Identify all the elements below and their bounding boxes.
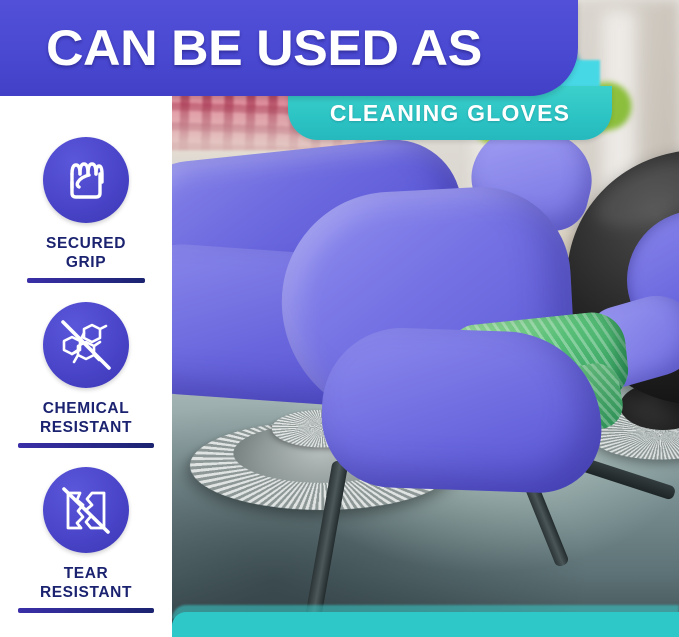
chemical-molecule-no-icon: [56, 315, 116, 375]
feature-icon-badge: [43, 137, 129, 223]
feature-icon-badge: [43, 302, 129, 388]
feature-label-line2: GRIP: [46, 253, 126, 272]
feature-underline: [18, 608, 154, 613]
feature-label: CHEMICAL RESISTANT: [40, 399, 132, 437]
glove-hand-lower: [319, 325, 604, 495]
feature-label: SECURED GRIP: [46, 234, 126, 272]
fist-grip-icon: [58, 152, 114, 208]
feature-label-line1: SECURED: [46, 234, 126, 253]
feature-list: SECURED GRIP: [0, 96, 172, 637]
feature-underline: [18, 443, 154, 448]
feature-label-line2: RESISTANT: [40, 418, 132, 437]
headline-banner: CAN BE USED AS: [0, 0, 578, 96]
feature-label: TEAR RESISTANT: [40, 564, 132, 602]
feature-tear-resistant: TEAR RESISTANT: [0, 467, 172, 613]
feature-secured-grip: SECURED GRIP: [0, 137, 172, 283]
feature-icon-badge: [43, 467, 129, 553]
bottom-accent-bar: [172, 612, 679, 637]
feature-label-line1: TEAR: [40, 564, 132, 583]
subtitle-text: CLEANING GLOVES: [330, 100, 570, 127]
feature-chemical-resistant: CHEMICAL RESISTANT: [0, 302, 172, 448]
torn-sheet-no-icon: [56, 480, 116, 540]
product-feature-banner: CLEANING GLOVES CAN BE USED AS: [0, 0, 679, 637]
headline-text: CAN BE USED AS: [46, 19, 482, 77]
feature-label-line2: RESISTANT: [40, 583, 132, 602]
feature-underline: [27, 278, 145, 283]
feature-label-line1: CHEMICAL: [40, 399, 132, 418]
